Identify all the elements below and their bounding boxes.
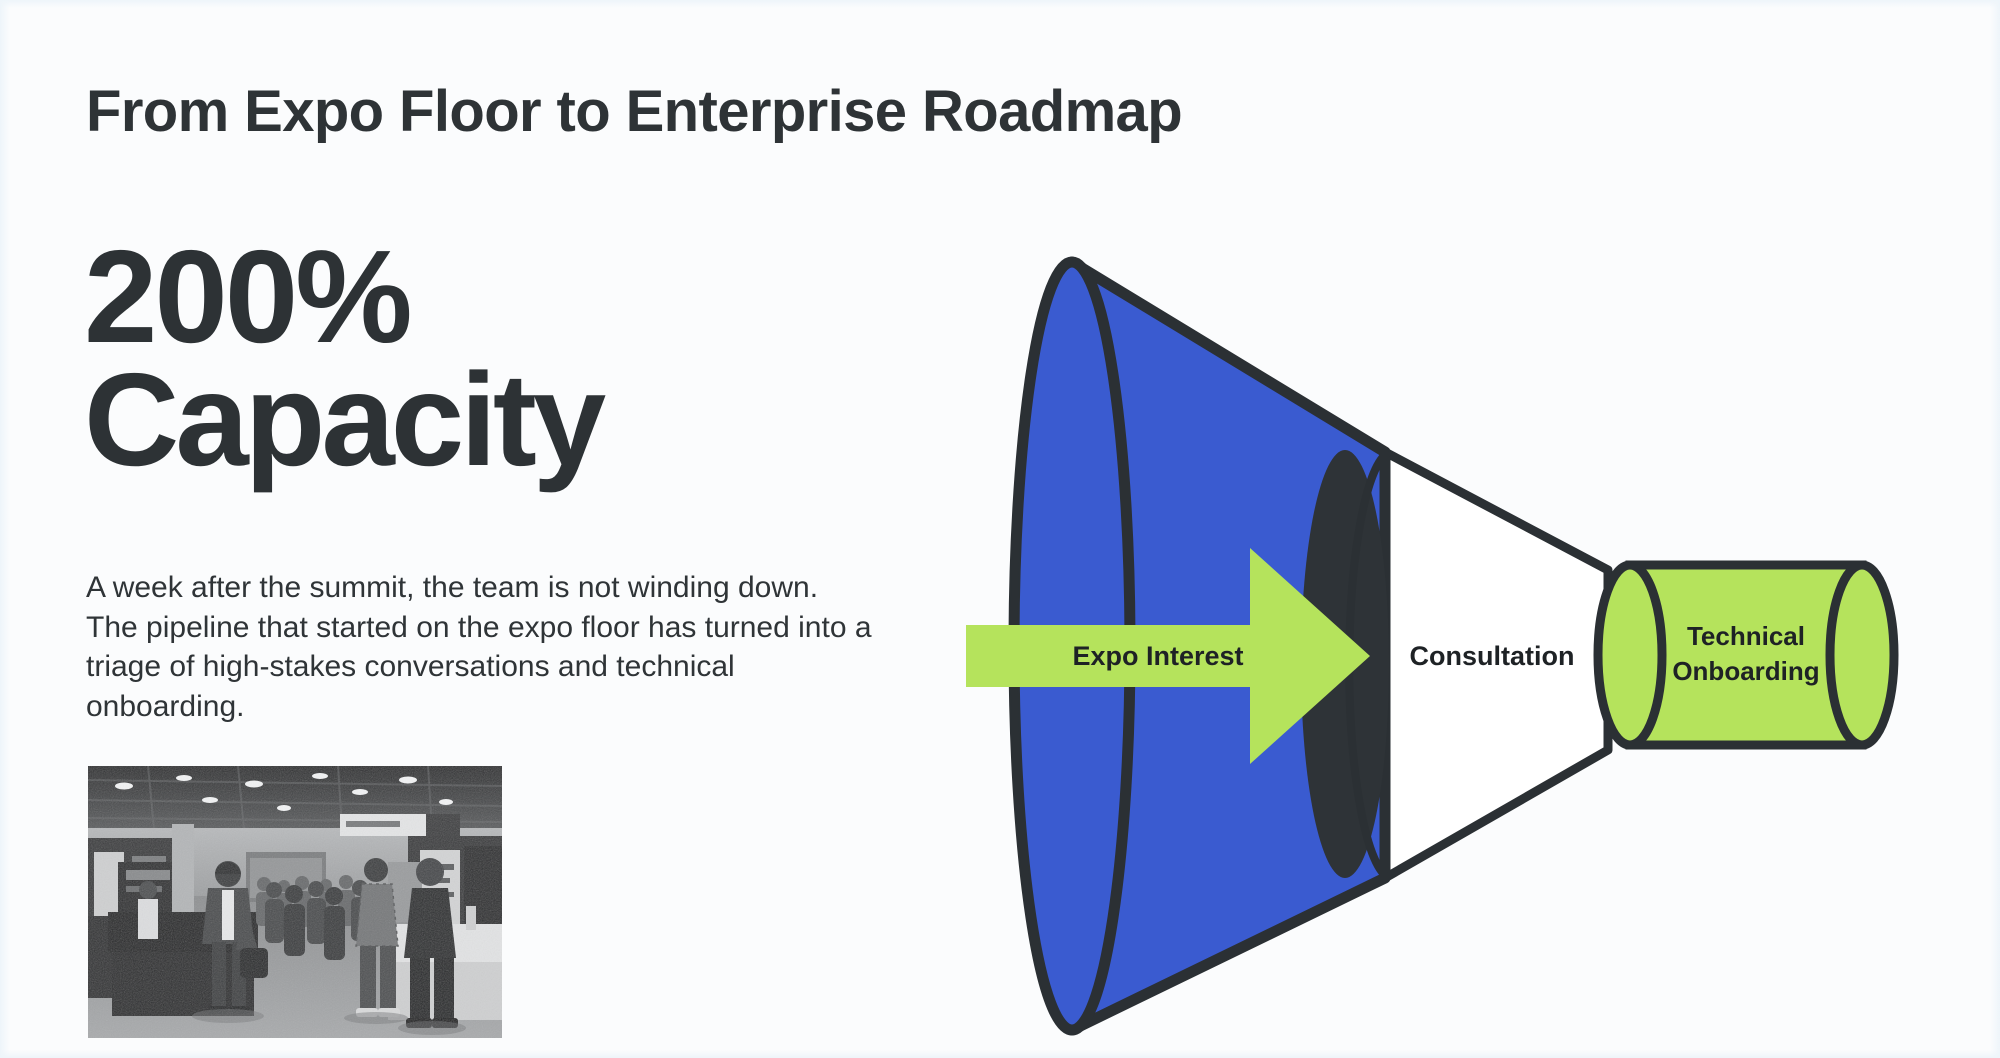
body-paragraph: A week after the summit, the team is not…: [86, 568, 876, 726]
funnel-stage-3-label-line1: Technical: [1687, 621, 1805, 651]
statistic-block: 200% Capacity: [84, 236, 904, 482]
expo-floor-photo: [88, 766, 502, 1038]
funnel-stage-1-label: Expo Interest: [1072, 641, 1243, 671]
statistic-label: Capacity: [84, 359, 904, 482]
funnel-stage-3-label-line2: Onboarding: [1672, 656, 1819, 686]
funnel-stage-2-label: Consultation: [1410, 641, 1575, 671]
slide-canvas: From Expo Floor to Enterprise Roadmap 20…: [0, 0, 2000, 1058]
funnel-stage-3-cylinder: [1598, 565, 1894, 745]
funnel-diagram: Expo Interest Consultation Technical Onb…: [930, 230, 1960, 1058]
statistic-value: 200%: [84, 236, 904, 359]
page-title: From Expo Floor to Enterprise Roadmap: [86, 78, 1182, 145]
expo-floor-photo-art: [88, 766, 502, 1038]
funnel-diagram-art: Expo Interest Consultation Technical Onb…: [930, 230, 1960, 1058]
